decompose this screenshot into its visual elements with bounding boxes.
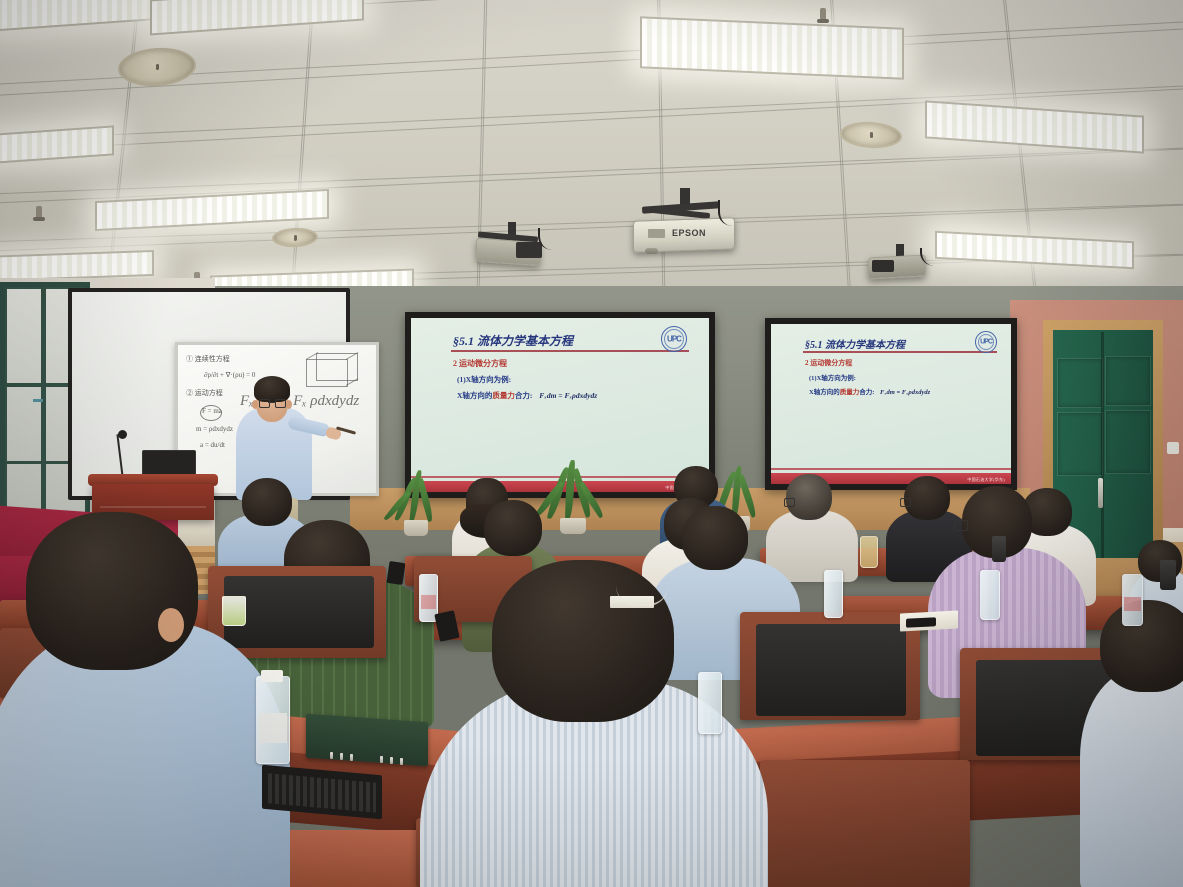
- water-bottle[interactable]: [698, 672, 722, 734]
- water-bottle[interactable]: [824, 570, 843, 618]
- slide-line-3-suffix: 合力:: [859, 389, 874, 396]
- slide-equation: Fₓdm = Fₓρdxdydz: [880, 389, 930, 396]
- university-seal-logo: UPC: [975, 331, 997, 353]
- slide-footer-text: 中国石油大学(华东): [967, 477, 1005, 483]
- thermos-flask[interactable]: [992, 536, 1006, 562]
- water-bottle[interactable]: [980, 570, 1000, 620]
- slide-line-2: (1)X轴方向为例:: [457, 374, 511, 385]
- whiteboard-note: a = du/dt: [200, 441, 225, 449]
- podium-monitor[interactable]: [142, 450, 196, 476]
- whiteboard-note: F = ma: [202, 407, 222, 415]
- slide-line-3-emphasis: 质量力: [840, 389, 860, 396]
- slide-line-1: 2 运动微分方程: [453, 358, 507, 369]
- seal-text: UPC: [667, 334, 681, 343]
- water-bottle[interactable]: [256, 676, 290, 764]
- slide-line-3-suffix: 合力:: [515, 391, 533, 400]
- projection-screen-right: §5.1 流体力学基本方程 UPC 2 运动微分方程 (1)X轴方向为例: X轴…: [765, 318, 1017, 490]
- slide-line-3-prefix: X轴方向的: [809, 389, 840, 396]
- projection-screen-left: §5.1 流体力学基本方程 UPC 2 运动微分方程 (1)X轴方向为例: X轴…: [405, 312, 715, 498]
- mobile-phone[interactable]: [906, 617, 936, 628]
- sprinkler-head: [36, 206, 42, 220]
- thermos-flask[interactable]: [1160, 560, 1176, 590]
- mobile-phone[interactable]: [387, 561, 406, 585]
- slide-title: §5.1 流体力学基本方程: [805, 336, 905, 351]
- presenter-glasses: [259, 399, 270, 408]
- slide-title: §5.1 流体力学基本方程: [453, 332, 573, 349]
- water-bottle[interactable]: [860, 536, 878, 568]
- university-seal-logo: UPC: [661, 326, 687, 352]
- seal-text: UPC: [980, 338, 992, 345]
- wall-switch[interactable]: [1167, 442, 1179, 454]
- slide-line-2: (1)X轴方向为例:: [809, 372, 856, 382]
- slide-line-3-emphasis: 质量力: [492, 391, 515, 400]
- whiteboard-note: m = ρdxdydz: [196, 425, 233, 433]
- projector-brand-label: EPSON: [672, 228, 706, 238]
- slide-equation: Fₓdm = Fₓρdxdydz: [539, 391, 597, 400]
- whiteboard-note: ∂ρ/∂t + ∇·(ρu) = 0: [204, 371, 255, 379]
- slide-line-3-prefix: X轴方向的: [457, 391, 492, 400]
- whiteboard-note: ① 连续性方程: [186, 355, 230, 363]
- door-handle[interactable]: [1098, 478, 1103, 508]
- whiteboard-note: ② 运动方程: [186, 389, 223, 397]
- water-bottle[interactable]: [1122, 574, 1143, 626]
- slide-line-1: 2 运动微分方程: [805, 358, 852, 368]
- sprinkler-head: [820, 8, 826, 22]
- ring-binder-folder[interactable]: [306, 714, 428, 767]
- chair[interactable]: [760, 760, 970, 887]
- lecture-hall-photo: ① 连续性方程 ∂ρ/∂t + ∇·(ρu) = 0 ② 运动方程 F = ma…: [0, 0, 1183, 887]
- disposable-cup[interactable]: [222, 596, 246, 626]
